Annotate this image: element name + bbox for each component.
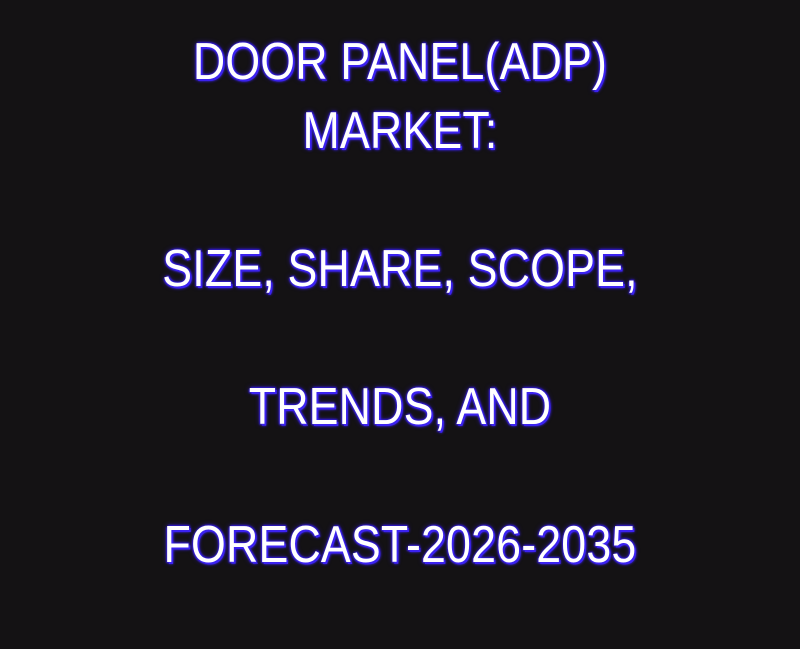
headline-line-2: DOOR PANEL(ADP) MARKET:: [90, 28, 709, 166]
headline-line-3: SIZE, SHARE, SCOPE,: [90, 235, 709, 304]
headline-line-4: TRENDS, AND: [90, 373, 709, 442]
headline-line-5: FORECAST-2026-2035: [90, 511, 709, 580]
page-title: SOUTH KOREA AUTOMOTIVE DOOR PANEL(ADP) M…: [90, 0, 709, 649]
title-card: SOUTH KOREA AUTOMOTIVE DOOR PANEL(ADP) M…: [0, 0, 800, 400]
